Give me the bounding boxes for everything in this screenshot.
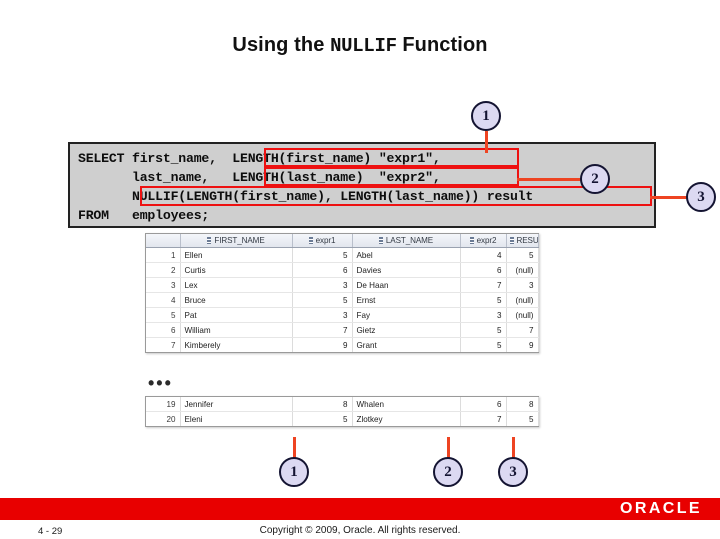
cell-first-name: Pat [180,308,292,323]
cell-result: 5 [506,248,538,263]
cell-first-name: Eleni [180,412,292,427]
result-grid: FIRST_NAME expr1 LAST_NAME expr2 RESULT … [145,233,539,353]
cell-last-name: Grant [352,338,460,353]
cell-result: (null) [506,293,538,308]
table-row[interactable]: 1 Ellen 5 Abel 4 5 [146,248,538,263]
column-header-last-name[interactable]: LAST_NAME [352,234,460,248]
result-table-tail: 19 Jennifer 8 Whalen 6 8 20 Eleni 5 Zlot… [146,397,539,426]
cell-expr2: 4 [460,248,506,263]
cell-rownum: 6 [146,323,180,338]
cell-first-name: Jennifer [180,397,292,412]
cell-rownum: 20 [146,412,180,427]
cell-last-name: Fay [352,308,460,323]
sort-icon [379,237,383,244]
callout-1-connector [485,131,488,153]
cell-rownum: 4 [146,293,180,308]
cell-first-name: Lex [180,278,292,293]
result-grid-tail: 19 Jennifer 8 Whalen 6 8 20 Eleni 5 Zlot… [145,396,539,427]
sort-icon [470,237,474,244]
oracle-logo: ORACLE [620,500,702,518]
callout-bottom-1-connector [293,437,296,459]
cell-first-name: Curtis [180,263,292,278]
cell-result: 7 [506,323,538,338]
column-header-result[interactable]: RESULT [506,234,538,248]
callout-1-top: 1 [471,101,501,131]
footer-red-band [0,498,720,520]
sort-icon [309,237,313,244]
cell-expr1: 5 [292,248,352,263]
table-header-row: FIRST_NAME expr1 LAST_NAME expr2 RESULT [146,234,538,248]
sql-code-text: SELECT first_name, LENGTH(first_name) "e… [78,149,533,225]
copyright-notice: Copyright © 2009, Oracle. All rights res… [0,525,720,536]
cell-expr1: 6 [292,263,352,278]
callout-1-bottom: 1 [279,457,309,487]
callout-3-connector [650,196,688,199]
cell-first-name: Ellen [180,248,292,263]
rows-truncated-ellipsis: ••• [148,378,173,388]
cell-last-name: Abel [352,248,460,263]
callout-bottom-2-connector [447,437,450,459]
column-header-first-name[interactable]: FIRST_NAME [180,234,292,248]
table-row[interactable]: 19 Jennifer 8 Whalen 6 8 [146,397,538,412]
callout-2-top: 2 [580,164,610,194]
page-title: Using the NULLIF Function [0,34,720,57]
column-header-label: RESULT [517,236,539,245]
cell-expr1: 3 [292,278,352,293]
cell-result: 3 [506,278,538,293]
cell-last-name: Davies [352,263,460,278]
sql-line-4: FROM employees; [78,208,209,223]
cell-result: 9 [506,338,538,353]
cell-expr1: 5 [292,293,352,308]
cell-expr2: 7 [460,412,506,427]
column-header-label: FIRST_NAME [214,236,264,245]
cell-first-name: Bruce [180,293,292,308]
cell-expr1: 9 [292,338,352,353]
sort-icon [510,237,514,244]
table-body: 1 Ellen 5 Abel 4 5 2 Curtis 6 Davies 6 (… [146,248,538,353]
table-row[interactable]: 20 Eleni 5 Zlotkey 7 5 [146,412,538,427]
cell-expr2: 7 [460,278,506,293]
cell-expr2: 5 [460,293,506,308]
page-title-prefix: Using the [232,34,330,56]
sql-code-block: SELECT first_name, LENGTH(first_name) "e… [68,142,656,228]
sql-line-1: SELECT first_name, LENGTH(first_name) "e… [78,151,441,166]
cell-expr1: 8 [292,397,352,412]
cell-expr1: 7 [292,323,352,338]
table-row[interactable]: 5 Pat 3 Fay 3 (null) [146,308,538,323]
cell-first-name: William [180,323,292,338]
table-body-tail: 19 Jennifer 8 Whalen 6 8 20 Eleni 5 Zlot… [146,397,538,426]
cell-rownum: 7 [146,338,180,353]
cell-first-name: Kimberely [180,338,292,353]
cell-last-name: De Haan [352,278,460,293]
column-header-label: LAST_NAME [386,236,433,245]
cell-last-name: Zlotkey [352,412,460,427]
column-header-expr1[interactable]: expr1 [292,234,352,248]
cell-rownum: 1 [146,248,180,263]
cell-result: 5 [506,412,538,427]
sort-icon [207,237,211,244]
cell-expr2: 5 [460,323,506,338]
sql-line-2: last_name, LENGTH(last_name) "expr2", [78,170,441,185]
cell-result: (null) [506,263,538,278]
table-row[interactable]: 4 Bruce 5 Ernst 5 (null) [146,293,538,308]
callout-3-bottom: 3 [498,457,528,487]
table-row[interactable]: 3 Lex 3 De Haan 7 3 [146,278,538,293]
cell-last-name: Gietz [352,323,460,338]
callout-2-bottom: 2 [433,457,463,487]
cell-expr2: 6 [460,263,506,278]
cell-last-name: Ernst [352,293,460,308]
column-header-rownum [146,234,180,248]
cell-expr2: 3 [460,308,506,323]
table-row[interactable]: 2 Curtis 6 Davies 6 (null) [146,263,538,278]
column-header-expr2[interactable]: expr2 [460,234,506,248]
cell-expr2: 5 [460,338,506,353]
callout-bottom-3-connector [512,437,515,459]
cell-rownum: 5 [146,308,180,323]
cell-expr1: 5 [292,412,352,427]
column-header-label: expr1 [316,236,336,245]
table-row[interactable]: 6 William 7 Gietz 5 7 [146,323,538,338]
callout-2-connector [517,178,581,181]
cell-rownum: 3 [146,278,180,293]
cell-rownum: 19 [146,397,180,412]
callout-3-top: 3 [686,182,716,212]
result-table: FIRST_NAME expr1 LAST_NAME expr2 RESULT … [146,234,539,352]
table-row[interactable]: 7 Kimberely 9 Grant 5 9 [146,338,538,353]
sql-line-3: NULLIF(LENGTH(first_name), LENGTH(last_n… [78,189,533,204]
cell-result: 8 [506,397,538,412]
page-title-function-name: NULLIF [330,35,397,57]
cell-result: (null) [506,308,538,323]
cell-rownum: 2 [146,263,180,278]
cell-expr2: 6 [460,397,506,412]
cell-last-name: Whalen [352,397,460,412]
column-header-label: expr2 [477,236,497,245]
cell-expr1: 3 [292,308,352,323]
page-title-suffix: Function [397,34,488,56]
